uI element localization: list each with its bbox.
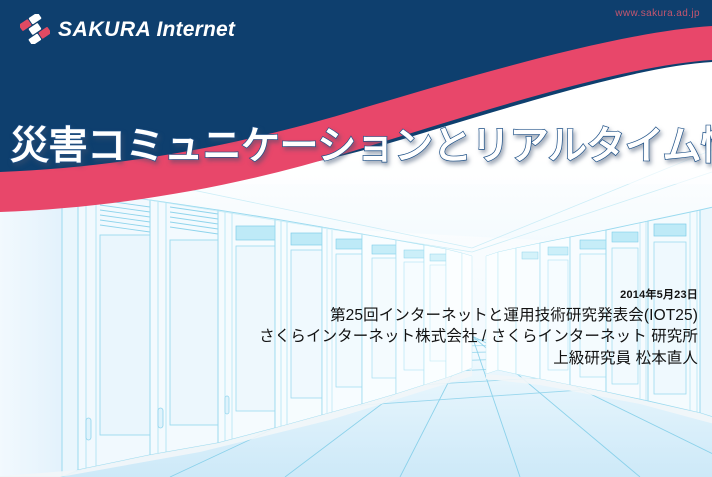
presentation-date: 2014年5月23日 <box>259 286 698 302</box>
conference-name: 第25回インターネットと運用技術研究発表会(IOT25) <box>259 305 698 326</box>
credits-block: 2014年5月23日 第25回インターネットと運用技術研究発表会(IOT25) … <box>259 286 698 369</box>
sakura-s-mark-icon <box>20 14 50 44</box>
brand-logo-text-secondary: Internet <box>156 18 235 41</box>
brand-logo-text-primary: SAKURA <box>58 18 151 41</box>
presenter: 上級研究員 松本直人 <box>259 348 698 369</box>
brand-logo-text: SAKURAInternet <box>58 19 235 40</box>
site-url: www.sakura.ad.jp <box>615 8 700 19</box>
data-center-corridor-illustration <box>0 0 712 477</box>
affiliation: さくらインターネット株式会社 / さくらインターネット 研究所 <box>259 326 698 347</box>
page-title: 災害コミュニケーションとリアルタイム情報収集 <box>10 127 710 168</box>
title-slide: SAKURAInternet www.sakura.ad.jp 災害コミュニケー… <box>0 0 712 477</box>
brand-logo: SAKURAInternet <box>20 14 235 44</box>
